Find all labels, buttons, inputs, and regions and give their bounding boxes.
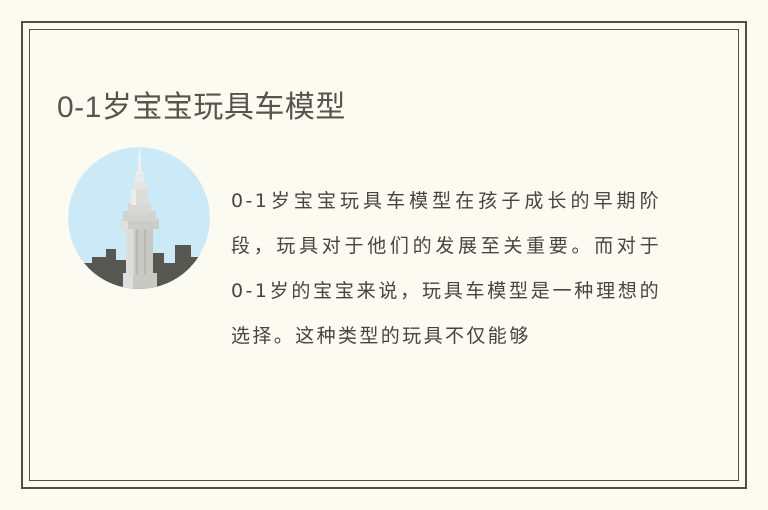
empire-state-building-icon — [68, 147, 210, 289]
article-content: 0-1岁宝宝玩具车模型 — [0, 0, 768, 510]
article-page: 0-1岁宝宝玩具车模型 — [0, 0, 768, 510]
article-body-text: 0-1岁宝宝玩具车模型在孩子成长的早期阶段，玩具对于他们的发展至关重要。而对于0… — [231, 179, 661, 359]
page-title: 0-1岁宝宝玩具车模型 — [57, 88, 346, 128]
